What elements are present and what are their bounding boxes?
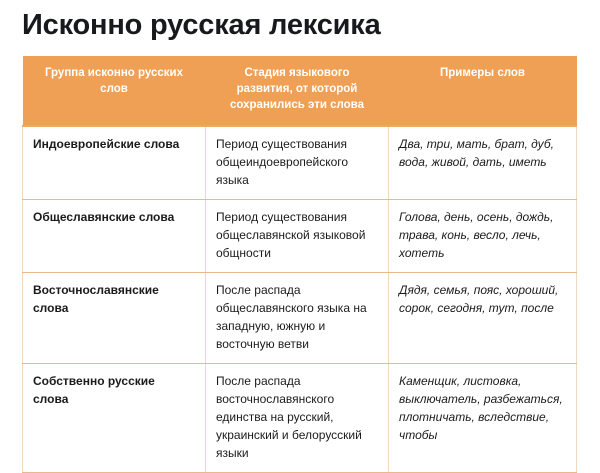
- cell-stage-text: Период существования общеиндоевропейског…: [216, 135, 376, 189]
- lexicon-table: Группа исконно русских слов Стадия языко…: [22, 56, 577, 473]
- cell-group-text: Общеславянские слова: [33, 208, 193, 226]
- table-row: Собственно русские слова После распада в…: [23, 364, 577, 473]
- cell-group-text: Собственно русские слова: [33, 372, 193, 408]
- cell-group: Индоевропейские слова: [23, 126, 206, 200]
- cell-stage: Период существования общеиндоевропейског…: [206, 126, 389, 200]
- cell-stage-text: После распада восточнославянского единст…: [216, 372, 376, 462]
- cell-examples: Дядя, семья, пояс, хороший, сорок, сегод…: [389, 273, 577, 364]
- table-body: Индоевропейские слова Период существован…: [23, 126, 577, 473]
- column-header-group: Группа исконно русских слов: [23, 56, 206, 126]
- table-header: Группа исконно русских слов Стадия языко…: [23, 56, 577, 126]
- cell-examples: Два, три, мать, брат, дуб, вода, живой, …: [389, 126, 577, 200]
- cell-stage: Период существования общеславянской язык…: [206, 200, 389, 273]
- cell-stage: После распада общеславянского языка на з…: [206, 273, 389, 364]
- table-row: Индоевропейские слова Период существован…: [23, 126, 577, 200]
- cell-examples-text: Голова, день, осень, дождь, трава, конь,…: [399, 208, 564, 262]
- cell-stage-text: Период существования общеславянской язык…: [216, 208, 376, 262]
- cell-stage: После распада восточнославянского единст…: [206, 364, 389, 473]
- cell-group: Восточнославянские слова: [23, 273, 206, 364]
- cell-group: Общеславянские слова: [23, 200, 206, 273]
- column-header-examples: Примеры слов: [389, 56, 577, 126]
- table-header-row: Группа исконно русских слов Стадия языко…: [23, 56, 577, 126]
- cell-examples-text: Два, три, мать, брат, дуб, вода, живой, …: [399, 135, 564, 171]
- column-header-stage: Стадия языкового развития, от которой со…: [206, 56, 389, 126]
- cell-examples-text: Дядя, семья, пояс, хороший, сорок, сегод…: [399, 281, 564, 317]
- cell-examples: Каменщик, листовка, выключатель, разбежа…: [389, 364, 577, 473]
- table-row: Восточнославянские слова После распада о…: [23, 273, 577, 364]
- cell-examples: Голова, день, осень, дождь, трава, конь,…: [389, 200, 577, 273]
- table-row: Общеславянские слова Период существовани…: [23, 200, 577, 273]
- cell-stage-text: После распада общеславянского языка на з…: [216, 281, 376, 353]
- slide-root: Исконно русская лексика Группа исконно р…: [0, 0, 600, 450]
- cell-examples-text: Каменщик, листовка, выключатель, разбежа…: [399, 372, 564, 444]
- page-title: Исконно русская лексика: [22, 6, 578, 44]
- lexicon-table-container: Группа исконно русских слов Стадия языко…: [22, 56, 576, 473]
- cell-group-text: Индоевропейские слова: [33, 135, 193, 153]
- cell-group: Собственно русские слова: [23, 364, 206, 473]
- cell-group-text: Восточнославянские слова: [33, 281, 193, 317]
